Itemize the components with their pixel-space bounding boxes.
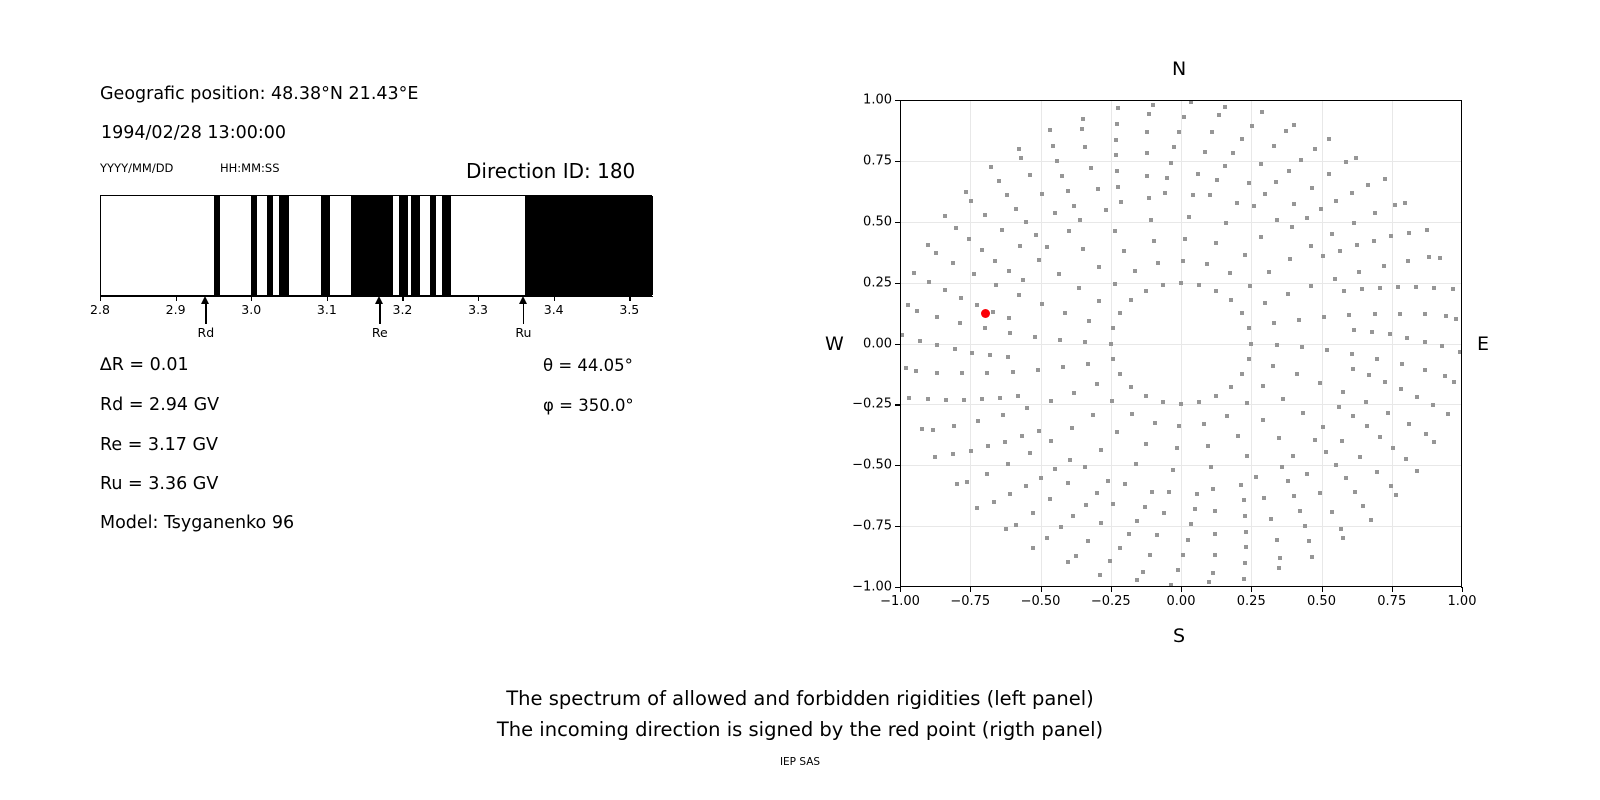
rigidity-tick-label: 2.9 xyxy=(166,302,186,317)
rigidity-tick xyxy=(100,296,101,301)
x-axis-tick xyxy=(900,587,901,592)
footer-label: IEP SAS xyxy=(0,756,1600,768)
y-axis-tick-label: −0.50 xyxy=(852,458,892,473)
rigidity-tick xyxy=(478,296,479,301)
y-axis-tick xyxy=(895,100,900,101)
x-axis-tick-label: 1.00 xyxy=(1448,594,1477,609)
y-axis-tick xyxy=(895,344,900,345)
direction-id-label: Direction ID: 180 xyxy=(466,159,635,183)
allowed-rigidity-band xyxy=(267,196,273,295)
y-axis-tick xyxy=(895,161,900,162)
compass-label-south: S xyxy=(1173,625,1185,647)
arrow-shaft xyxy=(205,302,206,324)
compass-label-north: N xyxy=(1172,58,1186,80)
rigidity-tick-label: 3.5 xyxy=(619,302,639,317)
y-axis-tick xyxy=(895,404,900,405)
x-axis-tick xyxy=(970,587,971,592)
plot-top-spine xyxy=(900,100,1462,101)
allowed-rigidity-band xyxy=(279,196,289,295)
allowed-rigidity-band xyxy=(321,196,331,295)
x-axis-tick-label: −1.00 xyxy=(880,594,920,609)
y-axis-tick-label: 0.50 xyxy=(863,214,892,229)
param-delta-r: ∆R = 0.01 xyxy=(100,355,189,375)
param-ru: Ru = 3.36 GV xyxy=(100,474,218,494)
allowed-rigidity-band xyxy=(442,196,452,295)
x-axis-tick-label: 0.50 xyxy=(1307,594,1336,609)
y-axis-tick-label: 0.75 xyxy=(863,153,892,168)
allowed-rigidity-band xyxy=(214,196,220,295)
x-axis-tick xyxy=(1041,587,1042,592)
allowed-rigidity-band xyxy=(251,196,257,295)
param-re: Re = 3.17 GV xyxy=(100,435,218,455)
y-axis-tick-label: 0.25 xyxy=(863,275,892,290)
x-axis-tick xyxy=(1181,587,1182,592)
x-axis-tick-label: 0.25 xyxy=(1237,594,1266,609)
rigidity-tick xyxy=(629,296,630,301)
y-axis-tick-label: −0.25 xyxy=(852,397,892,412)
allowed-rigidity-band xyxy=(411,196,419,295)
param-model: Model: Tsyganenko 96 xyxy=(100,513,294,533)
x-axis-tick-label: −0.50 xyxy=(1021,594,1061,609)
rigidity-marker-arrows: RdReRu xyxy=(100,0,653,1)
arrow-shaft xyxy=(523,302,524,324)
rigidity-tick xyxy=(251,296,252,301)
direction-plot-x-ticks: −1.00−0.75−0.50−0.250.000.250.500.751.00 xyxy=(900,587,1462,617)
direction-plot-y-ticks: −1.00−0.75−0.50−0.250.000.250.500.751.00 xyxy=(900,100,901,587)
rigidity-tick xyxy=(327,296,328,301)
direction-plot-axes xyxy=(900,100,1462,587)
x-axis-tick-label: −0.25 xyxy=(1091,594,1131,609)
x-axis-tick-label: −0.75 xyxy=(950,594,990,609)
rigidity-tick-label: 3.4 xyxy=(544,302,564,317)
rigidity-marker-label: Ru xyxy=(515,325,531,340)
rigidity-marker-label: Rd xyxy=(198,325,215,340)
allowed-rigidity-band xyxy=(399,196,407,295)
geographic-position-label: Geografic position: 48.38°N 21.43°E xyxy=(100,84,418,104)
y-axis-tick xyxy=(895,222,900,223)
compass-label-east: E xyxy=(1477,333,1489,355)
param-phi: φ = 350.0° xyxy=(543,396,634,415)
rigidity-tick-label: 2.8 xyxy=(90,302,110,317)
rigidity-tick xyxy=(402,296,403,301)
arrow-shaft xyxy=(379,302,380,324)
time-format-hint: HH:MM:SS xyxy=(220,161,280,175)
allowed-rigidity-band xyxy=(430,196,436,295)
rigidity-tick-label: 3.2 xyxy=(393,302,413,317)
x-axis-tick-label: 0.75 xyxy=(1377,594,1406,609)
rigidity-marker-label: Re xyxy=(372,325,388,340)
x-axis-tick xyxy=(1392,587,1393,592)
y-axis-tick xyxy=(895,465,900,466)
date-format-hint: YYYY/MM/DD xyxy=(100,161,173,175)
plot-right-spine xyxy=(1461,100,1462,588)
x-axis-tick xyxy=(1251,587,1252,592)
allowed-rigidity-band xyxy=(351,196,393,295)
y-axis-tick-label: −0.75 xyxy=(852,519,892,534)
y-axis-tick xyxy=(895,526,900,527)
param-rd: Rd = 2.94 GV xyxy=(100,395,219,415)
caption-line-2: The incoming direction is signed by the … xyxy=(0,718,1600,741)
x-axis-tick xyxy=(1462,587,1463,592)
rigidity-tick-label: 3.3 xyxy=(468,302,488,317)
y-axis-tick-label: −1.00 xyxy=(852,580,892,595)
datetime-label: 1994/02/28 13:00:00 xyxy=(101,123,286,143)
caption-line-1: The spectrum of allowed and forbidden ri… xyxy=(0,687,1600,710)
compass-label-west: W xyxy=(825,333,844,355)
rigidity-tick xyxy=(554,296,555,301)
rigidity-spectrum-bar xyxy=(100,195,652,296)
x-axis-tick xyxy=(1111,587,1112,592)
rigidity-tick-label: 3.0 xyxy=(241,302,261,317)
rigidity-tick xyxy=(176,296,177,301)
allowed-rigidity-band xyxy=(525,196,653,295)
y-axis-tick xyxy=(895,283,900,284)
param-theta: θ = 44.05° xyxy=(543,356,633,375)
x-axis-tick-label: 0.00 xyxy=(1167,594,1196,609)
rigidity-tick-label: 3.1 xyxy=(317,302,337,317)
y-axis-tick-label: 0.00 xyxy=(863,336,892,351)
y-axis-tick-label: 1.00 xyxy=(863,93,892,108)
x-axis-tick xyxy=(1322,587,1323,592)
